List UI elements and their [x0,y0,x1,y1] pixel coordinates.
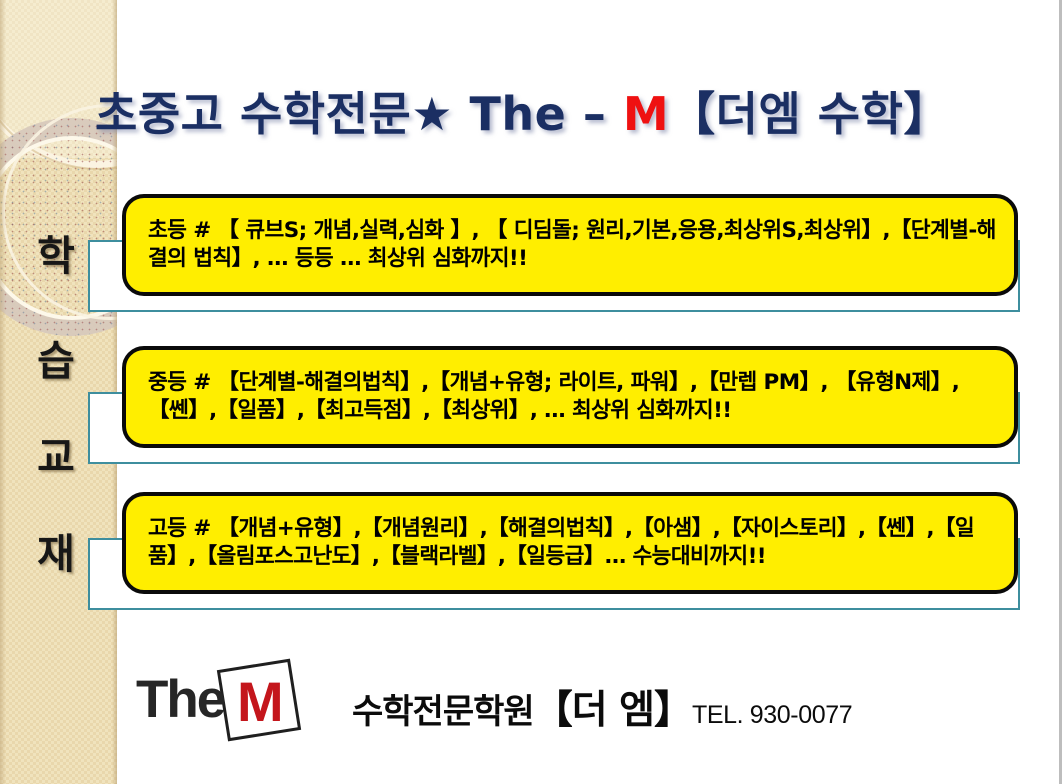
title-highlight-m: M [623,87,669,141]
logo-m-text: M [237,669,284,734]
content-block-high: 고등 # 【개념+유형】,【개념원리】,【해결의법칙】,【아샘】,【자이스토리】… [88,492,1028,620]
yellow-bubble-1: 초등 # 【 큐브S; 개념,실력,심화 】, 【 디딤돌; 원리,기본,응용,… [122,194,1018,296]
title-part-2: 【더엠 수학】 [669,87,950,141]
page-title: 초중고 수학전문★ The – M【더엠 수학】 [95,78,1045,144]
bubble-text-middle: 중등 # 【단계별-해결의법칙】,【개념+유형; 라이트, 파워】,【만렙 PM… [148,369,1000,425]
yellow-bubble-3: 고등 # 【개념+유형】,【개념원리】,【해결의법칙】,【아샘】,【자이스토리】… [122,492,1018,594]
footer-brand-name: 【더 엠】 [534,688,692,733]
sidebar-edge-left [0,0,6,784]
content-block-elementary: 초등 # 【 큐브S; 개념,실력,심화 】, 【 디딤돌; 원리,기본,응용,… [88,194,1028,322]
bubble-text-elementary: 초등 # 【 큐브S; 개념,실력,심화 】, 【 디딤돌; 원리,기본,응용,… [148,217,1000,273]
content-block-middle: 중등 # 【단계별-해결의법칙】,【개념+유형; 라이트, 파워】,【만렙 PM… [88,346,1028,474]
slide-canvas: 학 습 교 재 초중고 수학전문★ The – M【더엠 수학】 초등 # 【 … [0,0,1062,784]
footer-contact: 수학전문학원【더 엠】TEL. 930-0077 [352,679,852,735]
logo-the-text: The [136,669,224,730]
yellow-bubble-2: 중등 # 【단계별-해결의법칙】,【개념+유형; 라이트, 파워】,【만렙 PM… [122,346,1018,448]
bubble-text-high: 고등 # 【개념+유형】,【개념원리】,【해결의법칙】,【아샘】,【자이스토리】… [148,515,1000,571]
footer-academy-name: 수학전문학원 [352,692,534,732]
title-part-1: 초중고 수학전문★ The – [95,87,623,141]
footer-telephone: TEL. 930-0077 [692,701,852,729]
them-logo: The M [136,661,316,733]
